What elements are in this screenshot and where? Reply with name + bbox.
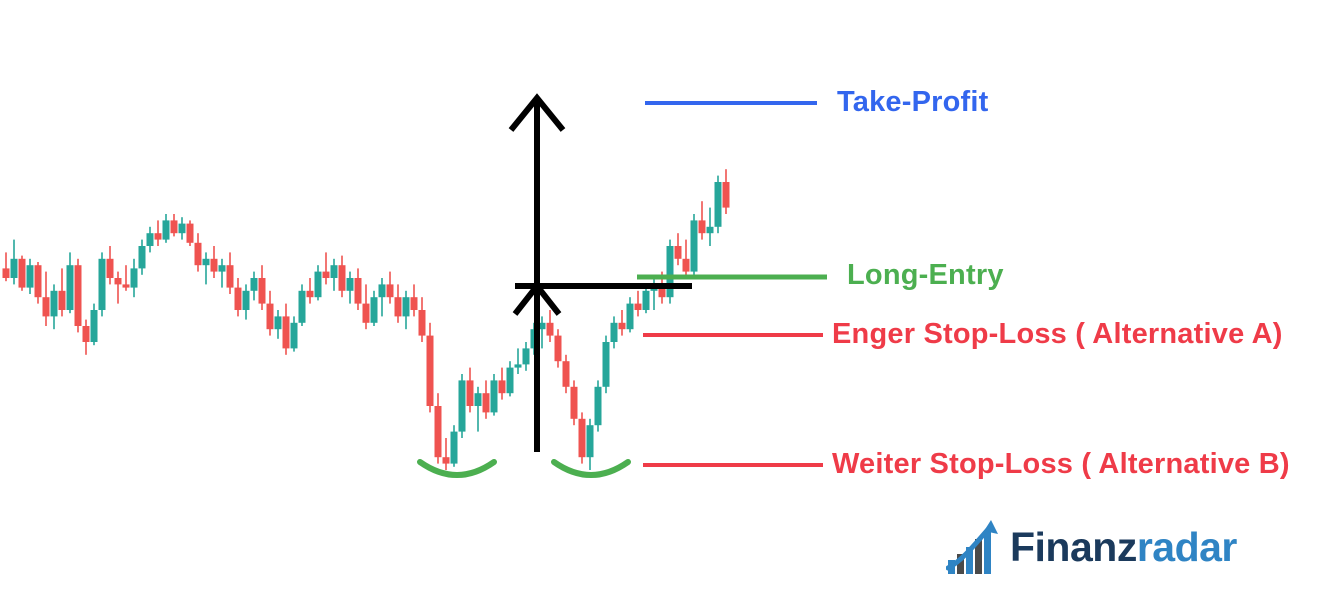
candle-body (299, 291, 306, 323)
candle-body (75, 265, 82, 326)
candle-body (291, 323, 298, 349)
candle-body (91, 310, 98, 342)
candle-body (171, 220, 178, 233)
candle-body (19, 259, 26, 288)
candle-body (555, 336, 562, 362)
long-entry-label: Long-Entry (847, 259, 1004, 292)
candle-body (443, 457, 450, 463)
candle-body (163, 220, 170, 239)
candle-body (403, 297, 410, 316)
candle-body (211, 259, 218, 272)
candle-body (67, 265, 74, 310)
candle-body (427, 336, 434, 406)
candle-body (387, 284, 394, 297)
candle-body (483, 393, 490, 412)
candle-body (243, 291, 250, 310)
candle-body (323, 272, 330, 278)
candle-body (707, 227, 714, 233)
candle-body (451, 432, 458, 464)
candle-body (683, 259, 690, 272)
take-profit-label: Take-Profit (837, 86, 989, 119)
logo-wordmark: Finanzradar (1010, 527, 1237, 568)
candle-body (187, 224, 194, 243)
candle-body (395, 297, 402, 316)
candle-body (147, 233, 154, 246)
candle-body (667, 246, 674, 297)
candle-body (643, 291, 650, 310)
candlestick-chart (0, 0, 1327, 600)
swing-low-arc-left (420, 462, 494, 475)
candle-body (571, 387, 578, 419)
candle-body (331, 265, 338, 278)
candle-body (115, 278, 122, 284)
candle-body (3, 268, 10, 278)
candle-body (99, 259, 106, 310)
candle-body (515, 364, 522, 367)
candle-body (435, 406, 442, 457)
candle-body (411, 297, 418, 310)
candle-body (563, 361, 570, 387)
candle-body (11, 259, 18, 278)
candle-body (459, 380, 466, 431)
candle-body (499, 380, 506, 393)
candle-body (267, 304, 274, 330)
candle-body (699, 220, 706, 233)
candle-body (371, 297, 378, 323)
candle-body (419, 310, 426, 336)
candle-body (379, 284, 386, 297)
candle-body (339, 265, 346, 291)
candle-body (347, 278, 354, 291)
candle-body (131, 268, 138, 287)
candle-body (35, 265, 42, 297)
candle-body (491, 380, 498, 412)
candle-body (227, 265, 234, 287)
candle-body (203, 259, 210, 265)
candle-body (603, 342, 610, 387)
candle-body (587, 425, 594, 457)
candle-body (107, 259, 114, 278)
stop-loss-alternative-b-label: Weiter Stop-Loss ( Alternative B) (832, 448, 1290, 481)
candle-body (51, 291, 58, 317)
candle-body (595, 387, 602, 425)
candle-body (355, 278, 362, 304)
candle-body (83, 326, 90, 342)
candle-body (139, 246, 146, 268)
candle-body (59, 291, 66, 310)
candle-body (235, 288, 242, 310)
candle-body (43, 297, 50, 316)
diagram-canvas: Take-Profit Long-Entry Enger Stop-Loss (… (0, 0, 1327, 600)
candle-body (547, 323, 554, 336)
candle-body (219, 265, 226, 271)
candle-body (627, 304, 634, 330)
stop-loss-alternative-a-label: Enger Stop-Loss ( Alternative A) (832, 318, 1283, 351)
candle-body (611, 323, 618, 342)
candle-body (715, 182, 722, 227)
candle-body (475, 393, 482, 406)
candle-body (155, 233, 162, 239)
candle-body (691, 220, 698, 271)
candle-body (619, 323, 626, 329)
swing-low-arc-right (554, 462, 628, 475)
bar-chart-arrow-icon (946, 518, 1004, 576)
candle-body (467, 380, 474, 406)
candle-body (723, 182, 730, 208)
candle-body (195, 243, 202, 265)
candle-body (523, 348, 530, 364)
candle-body (259, 278, 266, 304)
candle-body (123, 284, 130, 287)
candle-body (27, 265, 34, 287)
candles-group (3, 169, 730, 470)
candle-body (251, 278, 258, 291)
candle-body (363, 304, 370, 323)
candle-body (307, 291, 314, 297)
candle-body (283, 316, 290, 348)
candle-body (635, 304, 642, 310)
candle-body (507, 368, 514, 394)
logo-text-secondary: radar (1137, 524, 1237, 570)
candle-body (315, 272, 322, 298)
logo-text-primary: Finanz (1010, 524, 1137, 570)
candle-body (675, 246, 682, 259)
candle-body (179, 224, 186, 234)
finanzradar-logo: Finanzradar (946, 516, 1237, 578)
candle-body (275, 316, 282, 329)
candle-body (579, 419, 586, 457)
